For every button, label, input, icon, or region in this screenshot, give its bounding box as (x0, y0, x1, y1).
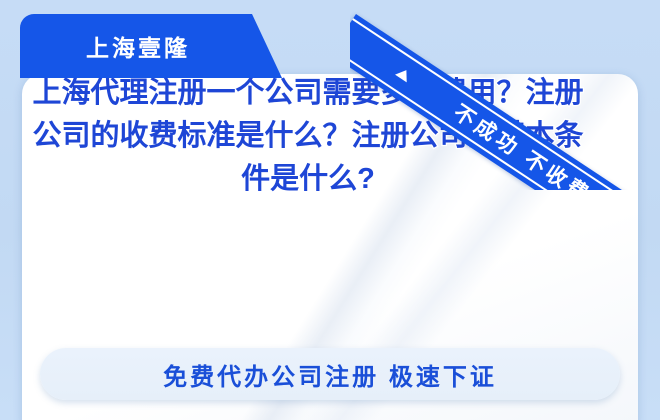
cta-button-label: 免费代办公司注册 极速下证 (163, 357, 497, 392)
brand-tab-label: 上海壹隆 (20, 14, 252, 78)
cta-button[interactable]: 免费代办公司注册 极速下证 (40, 348, 620, 400)
brand-tab[interactable]: 上海壹隆 (20, 14, 282, 78)
promo-banner: 上海壹隆 上海代理注册一个公司需要多少费用？注册公司的收费标准是什么？注册公司的… (0, 0, 660, 420)
page-title: 上海代理注册一个公司需要多少费用？注册公司的收费标准是什么？注册公司的基本条件是… (30, 72, 586, 201)
